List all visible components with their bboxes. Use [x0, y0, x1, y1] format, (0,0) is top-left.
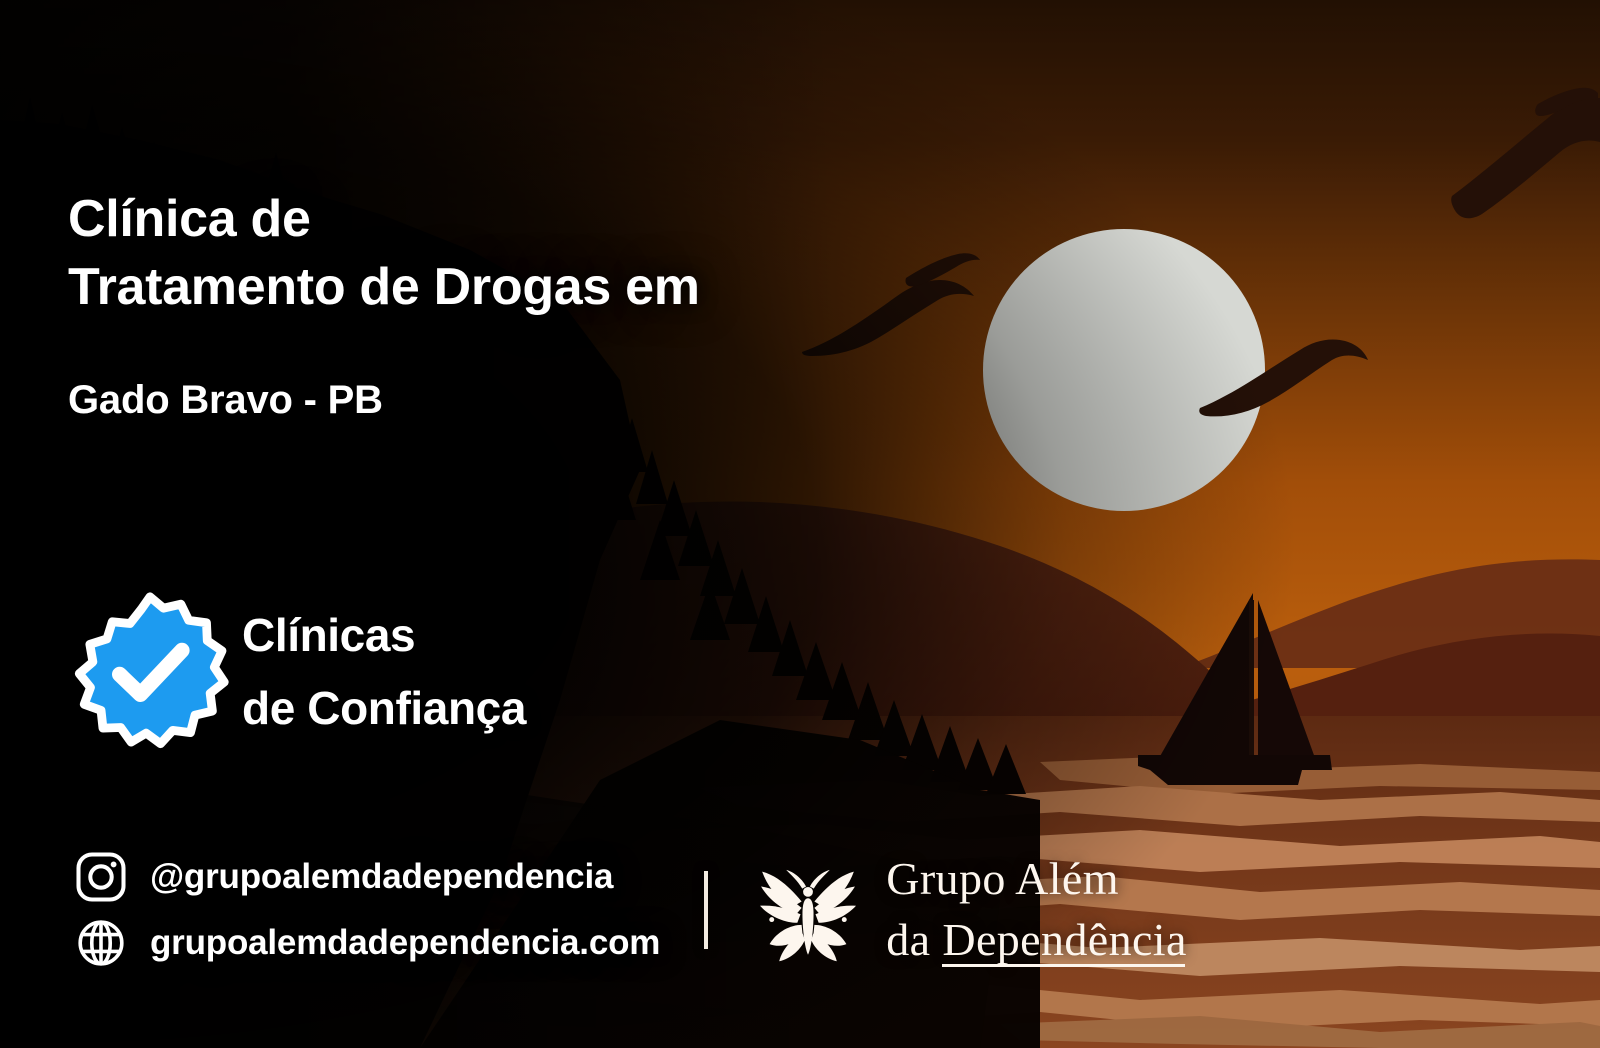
- instagram-icon: [74, 850, 128, 904]
- footer-divider: [704, 871, 708, 949]
- brand-logo: Grupo Além da Dependência: [744, 846, 1187, 974]
- footer-bar: @grupoalemdadependencia grupoalemdadepen…: [74, 846, 1187, 974]
- page-title: Clínica de Tratamento de Drogas em: [68, 186, 700, 321]
- trust-seal-label: Clínicas de Confiança: [242, 599, 526, 744]
- instagram-handle: @grupoalemdadependencia: [150, 857, 613, 897]
- butterfly-icon: [744, 846, 872, 974]
- brand-wordmark: Grupo Além da Dependência: [886, 849, 1187, 970]
- contact-instagram[interactable]: @grupoalemdadependencia: [74, 850, 660, 904]
- website-url: grupoalemdadependencia.com: [150, 923, 660, 963]
- trust-seal: Clínicas de Confiança: [74, 592, 526, 752]
- contact-list: @grupoalemdadependencia grupoalemdadepen…: [74, 850, 660, 970]
- brand-line-1: Grupo Além: [886, 849, 1187, 910]
- brand-underline-swash: [942, 964, 1185, 967]
- verified-check-badge-icon: [70, 592, 230, 752]
- brand-line-2: da Dependência: [886, 914, 1187, 965]
- contact-website[interactable]: grupoalemdadependencia.com: [74, 916, 660, 970]
- globe-icon: [74, 916, 128, 970]
- promo-poster: Clínica de Tratamento de Drogas em Gado …: [0, 0, 1600, 1048]
- city-subtitle: Gado Bravo - PB: [68, 378, 383, 423]
